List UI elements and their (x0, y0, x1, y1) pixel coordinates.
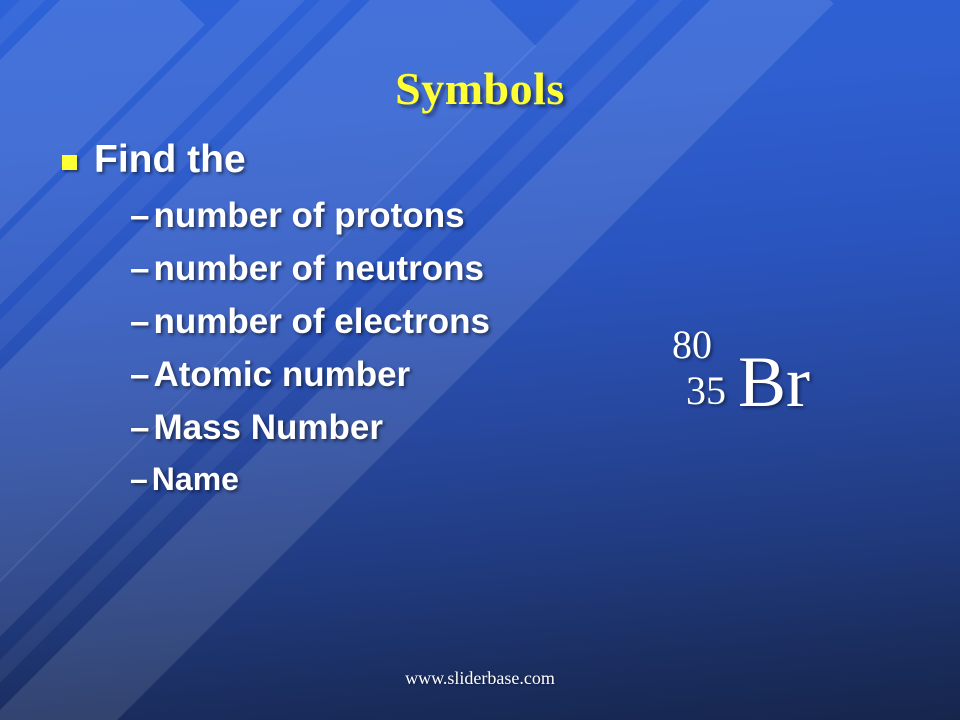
element-symbol: Br (738, 336, 810, 428)
mass-number: 80 (672, 322, 738, 368)
dash-bullet-icon: – (130, 408, 149, 448)
slide: Symbols Find the – number of protons – n… (0, 0, 960, 720)
list-item-label: number of neutrons (153, 249, 484, 289)
list-item: – Mass Number (130, 408, 682, 448)
list-item-label: Mass Number (153, 408, 383, 448)
atomic-number: 35 (686, 368, 738, 414)
list-item-label: Atomic number (153, 355, 410, 395)
list-item: – Atomic number (130, 355, 682, 395)
footer-watermark: www.sliderbase.com (0, 668, 960, 689)
nuclide-numbers: 80 35 (672, 322, 738, 414)
list-item-label: number of electrons (153, 302, 489, 342)
bullet-list: Find the – number of protons – number of… (62, 138, 682, 511)
nuclide-notation: 80 35 Br (672, 322, 810, 428)
list-item: – Name (130, 461, 682, 498)
list-item: – number of protons (130, 196, 682, 236)
square-bullet-icon (62, 155, 77, 170)
list-item: – number of neutrons (130, 249, 682, 289)
page-title: Symbols (0, 62, 960, 115)
list-item-label: Find the (94, 138, 246, 182)
dash-bullet-icon: – (130, 196, 149, 236)
dash-bullet-icon: – (130, 302, 149, 342)
list-item-label: Name (152, 461, 239, 498)
list-item-label: number of protons (153, 196, 464, 236)
dash-bullet-icon: – (130, 355, 149, 395)
dash-bullet-icon: – (130, 461, 148, 498)
list-item: Find the (62, 138, 682, 182)
list-item: – number of electrons (130, 302, 682, 342)
dash-bullet-icon: – (130, 249, 149, 289)
